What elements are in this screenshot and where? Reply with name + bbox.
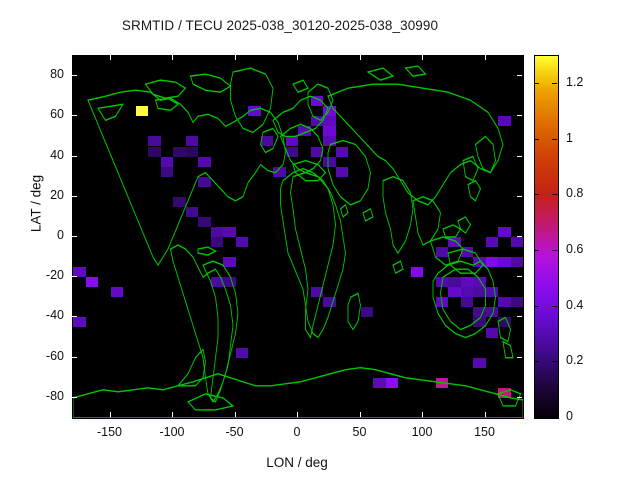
colorbar-tick-label: 1	[566, 131, 573, 145]
x-tick-mark	[172, 412, 173, 417]
colorbar-tick-label: 0	[566, 409, 573, 423]
heatmap-cell	[323, 297, 336, 307]
heatmap-cell	[498, 227, 511, 237]
heatmap-cell	[148, 136, 161, 146]
y-tick-label: -80	[4, 389, 64, 403]
heatmap-cell	[186, 136, 199, 146]
y-tick-label: -60	[4, 349, 64, 363]
heatmap-cell	[136, 106, 149, 116]
heatmap-cell	[386, 378, 399, 388]
colorbar-tick-mark	[534, 250, 539, 251]
heatmap-cell	[498, 116, 511, 126]
x-tick-mark	[485, 412, 486, 417]
y-tick-mark	[517, 316, 522, 317]
heatmap-cell	[173, 197, 186, 207]
heatmap-cell	[473, 317, 486, 327]
y-tick-mark	[72, 196, 77, 197]
heatmap-cell	[436, 297, 449, 307]
x-tick-mark	[360, 412, 361, 417]
heatmap-cell	[211, 237, 224, 247]
x-tick-label: -50	[205, 425, 265, 439]
map-plot-area[interactable]	[72, 55, 524, 419]
heatmap-cell	[186, 147, 199, 157]
x-tick-mark	[297, 55, 298, 60]
heatmap-cell	[223, 227, 236, 237]
colorbar-tick-label: 0.6	[566, 242, 583, 256]
heatmap-cell	[198, 157, 211, 167]
heatmap-cell	[323, 157, 336, 167]
heatmap-cell	[161, 167, 174, 177]
y-tick-mark	[517, 397, 522, 398]
heatmap-cell	[486, 307, 499, 317]
x-tick-mark	[110, 412, 111, 417]
heatmap-cell	[211, 277, 224, 287]
colorbar[interactable]	[534, 55, 559, 419]
heatmap-cell	[448, 287, 461, 297]
heatmap-cell	[486, 257, 499, 267]
heatmap-cell	[498, 317, 511, 327]
colorbar-tick-mark	[534, 194, 539, 195]
heatmap-cell	[473, 287, 486, 297]
y-tick-mark	[72, 75, 77, 76]
y-tick-label: 40	[4, 148, 64, 162]
heatmap-cell	[436, 378, 449, 388]
y-tick-mark	[72, 115, 77, 116]
heatmap-cell	[298, 126, 311, 136]
heatmap-cell	[498, 388, 511, 398]
colorbar-tick-mark	[552, 306, 557, 307]
colorbar-tick-label: 0.2	[566, 353, 583, 367]
colorbar-tick-mark	[552, 194, 557, 195]
x-tick-mark	[235, 412, 236, 417]
colorbar-tick-mark	[534, 361, 539, 362]
heatmap-cell	[473, 307, 486, 317]
heatmap-cell	[323, 116, 336, 126]
heatmap-cell	[461, 287, 474, 297]
heatmap-cell	[211, 227, 224, 237]
heatmap-cell	[311, 116, 324, 126]
heatmap-cell	[198, 217, 211, 227]
colorbar-tick-label: 1.2	[566, 75, 583, 89]
y-tick-mark	[517, 276, 522, 277]
x-tick-label: 150	[455, 425, 515, 439]
y-tick-label: 80	[4, 67, 64, 81]
heatmap-cell	[461, 277, 474, 287]
heatmap-cell	[73, 317, 86, 327]
x-tick-mark	[360, 55, 361, 60]
page-title: SRMTID / TECU 2025-038_30120-2025-038_30…	[0, 18, 560, 33]
y-tick-mark	[72, 397, 77, 398]
heatmap-cell	[336, 147, 349, 157]
heatmap-cell	[336, 167, 349, 177]
heatmap-cell	[486, 328, 499, 338]
y-tick-label: 20	[4, 188, 64, 202]
heatmap-cell	[436, 247, 449, 257]
heatmap-cell	[161, 157, 174, 167]
y-tick-label: 60	[4, 107, 64, 121]
x-tick-label: -150	[80, 425, 140, 439]
y-tick-mark	[517, 115, 522, 116]
heatmap-cell	[498, 297, 511, 307]
colorbar-tick-label: 0.8	[566, 186, 583, 200]
colorbar-tick-label: 0.4	[566, 298, 583, 312]
heatmap-cell	[198, 177, 211, 187]
colorbar-gradient	[535, 56, 558, 418]
heatmap-cell	[511, 257, 524, 267]
heatmap-cell	[448, 237, 461, 247]
y-tick-label: -20	[4, 268, 64, 282]
colorbar-tick-mark	[534, 139, 539, 140]
y-tick-label: -40	[4, 308, 64, 322]
y-tick-mark	[72, 357, 77, 358]
heatmap-cell	[186, 207, 199, 217]
heatmap-cell	[148, 147, 161, 157]
x-tick-mark	[422, 412, 423, 417]
heatmap-data-layer	[73, 56, 523, 418]
heatmap-cell	[373, 378, 386, 388]
x-axis-label: LON / deg	[72, 455, 522, 470]
x-tick-mark	[235, 55, 236, 60]
colorbar-tick-mark	[534, 83, 539, 84]
heatmap-cell	[486, 237, 499, 247]
y-tick-mark	[72, 276, 77, 277]
heatmap-cell	[173, 147, 186, 157]
y-tick-mark	[517, 156, 522, 157]
x-tick-label: -100	[142, 425, 202, 439]
heatmap-cell	[261, 136, 274, 146]
heatmap-cell	[236, 237, 249, 247]
colorbar-tick-mark	[552, 83, 557, 84]
y-tick-mark	[72, 236, 77, 237]
heatmap-cell	[361, 307, 374, 317]
heatmap-cell	[323, 126, 336, 136]
x-tick-mark	[485, 55, 486, 60]
heatmap-cell	[498, 257, 511, 267]
y-tick-mark	[72, 316, 77, 317]
heatmap-cell	[311, 287, 324, 297]
x-tick-label: 0	[267, 425, 327, 439]
heatmap-cell	[486, 287, 499, 297]
heatmap-cell	[448, 277, 461, 287]
heatmap-cell	[461, 247, 474, 257]
y-tick-label: 0	[4, 228, 64, 242]
x-tick-mark	[172, 55, 173, 60]
x-tick-mark	[422, 55, 423, 60]
colorbar-tick-mark	[534, 306, 539, 307]
heatmap-cell	[86, 277, 99, 287]
x-tick-mark	[110, 55, 111, 60]
colorbar-tick-mark	[552, 139, 557, 140]
heatmap-cell	[411, 267, 424, 277]
y-tick-mark	[517, 357, 522, 358]
heatmap-cell	[436, 277, 449, 287]
heatmap-cell	[111, 287, 124, 297]
heatmap-cell	[223, 257, 236, 267]
colorbar-tick-mark	[552, 361, 557, 362]
heatmap-cell	[248, 106, 261, 116]
heatmap-cell	[473, 257, 486, 267]
heatmap-cell	[311, 147, 324, 157]
heatmap-cell	[473, 358, 486, 368]
y-tick-mark	[72, 156, 77, 157]
figure-canvas: SRMTID / TECU 2025-038_30120-2025-038_30…	[0, 0, 640, 480]
y-tick-mark	[517, 75, 522, 76]
x-tick-mark	[297, 412, 298, 417]
y-tick-mark	[517, 196, 522, 197]
heatmap-cell	[311, 96, 324, 106]
heatmap-cell	[473, 277, 486, 287]
y-tick-mark	[517, 236, 522, 237]
heatmap-cell	[286, 147, 299, 157]
heatmap-cell	[286, 136, 299, 146]
heatmap-cell	[223, 277, 236, 287]
heatmap-cell	[511, 237, 524, 247]
heatmap-cell	[323, 136, 336, 146]
colorbar-tick-mark	[552, 250, 557, 251]
heatmap-cell	[273, 167, 286, 177]
heatmap-cell	[461, 297, 474, 307]
heatmap-cell	[323, 106, 336, 116]
x-tick-label: 50	[330, 425, 390, 439]
heatmap-cell	[236, 348, 249, 358]
heatmap-cell	[511, 297, 524, 307]
x-tick-label: 100	[392, 425, 452, 439]
